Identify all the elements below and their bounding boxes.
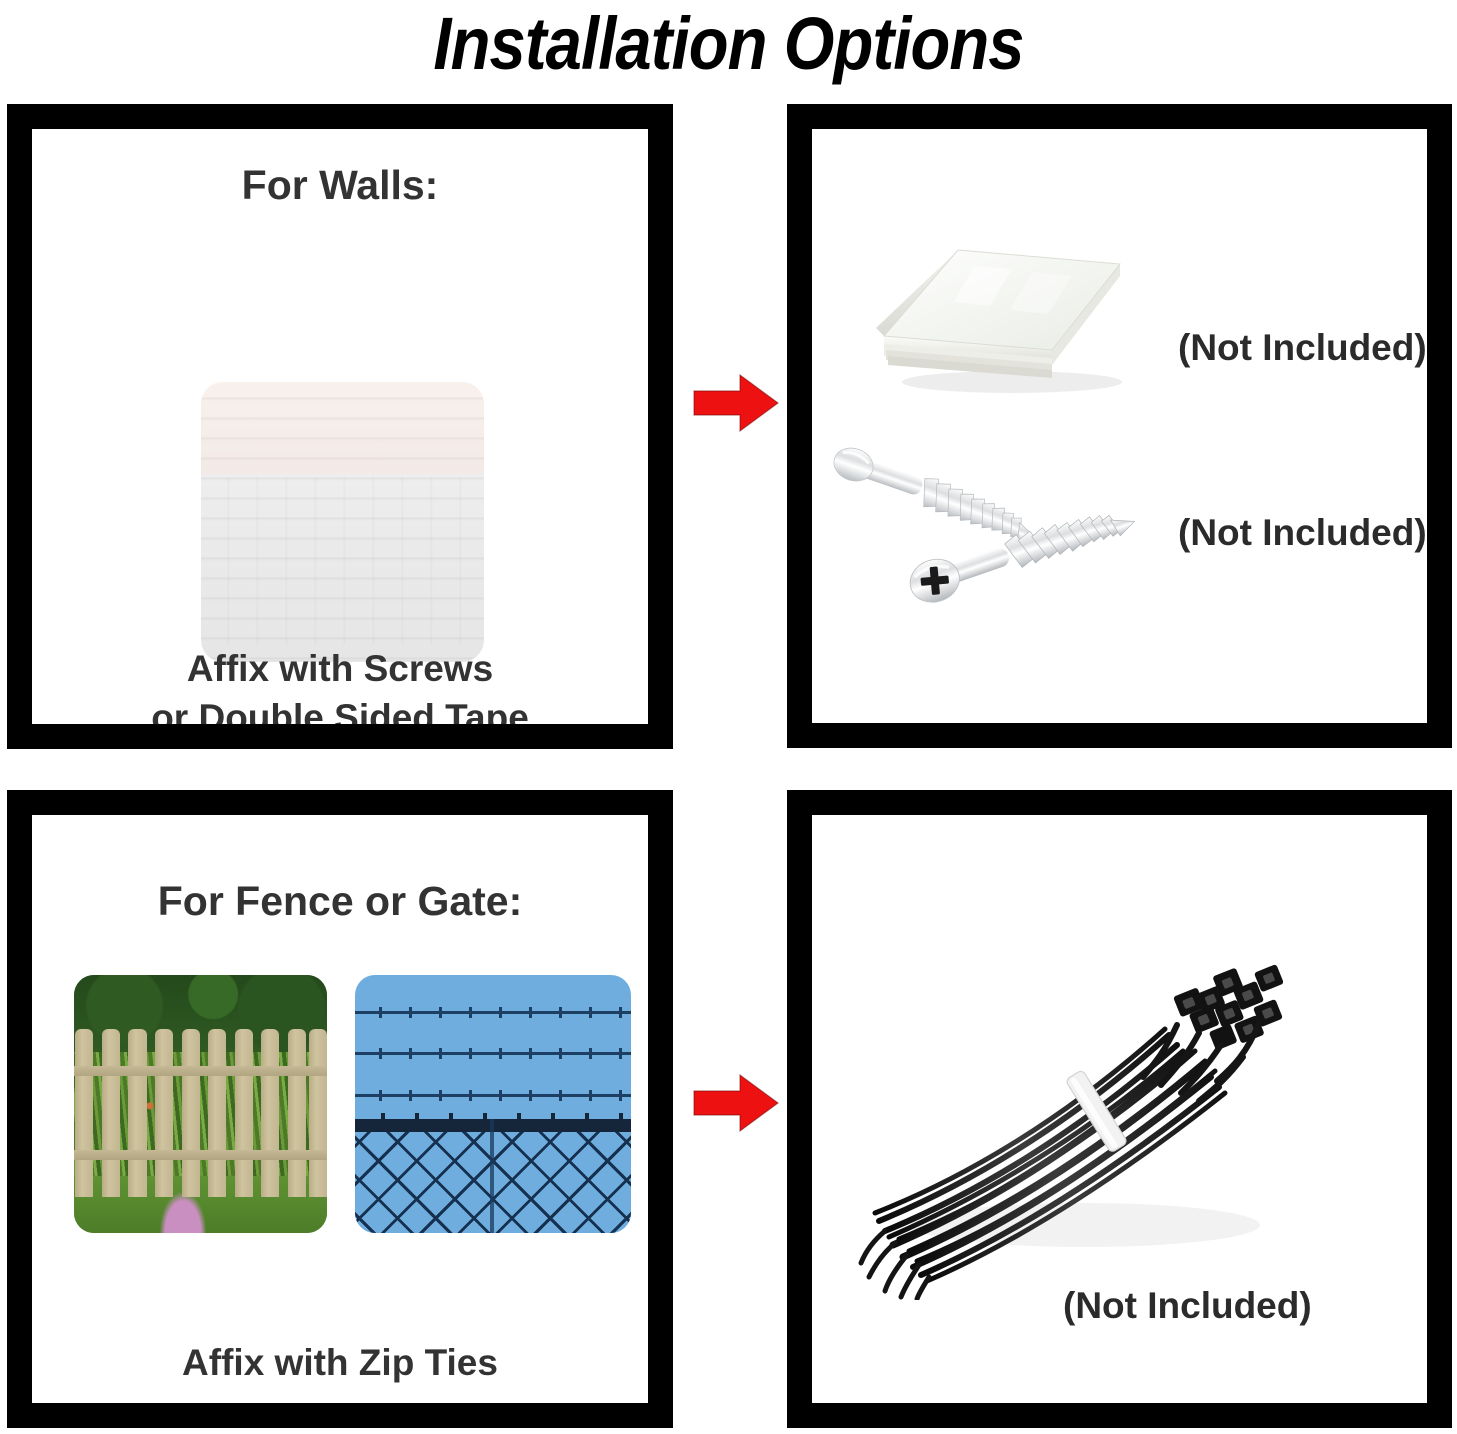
panel-for-walls-inner: For Walls: Affix with Screws or Double S… (32, 129, 648, 724)
screws-not-included-note: (Not Included) (1178, 512, 1427, 554)
zip-tie-bundle-photo (855, 905, 1325, 1300)
arrow-right-icon (692, 372, 780, 434)
wooden-picket-fence-photo (74, 975, 327, 1233)
double-sided-tape-stack-photo (862, 232, 1142, 397)
for-fence-or-gate-heading: For Fence or Gate: (32, 878, 648, 925)
fence-photo-pickets (74, 1029, 327, 1197)
page-title: Installation Options (87, 0, 1369, 92)
white-brick-wall-photo (201, 382, 484, 662)
tape-not-included-note: (Not Included) (1178, 327, 1427, 369)
arrow-right-icon (692, 1072, 780, 1134)
barbed-wire-strand-3 (355, 1094, 631, 1097)
panel-for-walls: For Walls: Affix with Screws or Double S… (7, 104, 673, 749)
for-walls-caption-line1: Affix with Screws (32, 644, 648, 693)
fence-photo-path (160, 1192, 206, 1233)
chain-fence-post (490, 1119, 494, 1233)
panel-wall-hardware-inner (812, 129, 1427, 723)
for-walls-caption-line2: or Double Sided Tape (32, 693, 648, 742)
barbed-wire-strand-2 (355, 1052, 631, 1055)
installation-options-infographic: Installation Options For Walls: Affix wi… (0, 0, 1457, 1434)
for-fence-caption: Affix with Zip Ties (32, 1338, 648, 1387)
wall-brick-joints (201, 477, 484, 645)
wood-screw-photo-2 (895, 510, 1145, 620)
for-walls-heading: For Walls: (32, 162, 648, 209)
panel-wall-hardware (787, 104, 1452, 748)
barbed-wire-strand-1 (355, 1011, 631, 1014)
zip-ties-not-included-note: (Not Included) (1063, 1285, 1312, 1327)
chain-link-fence-photo (355, 975, 631, 1233)
